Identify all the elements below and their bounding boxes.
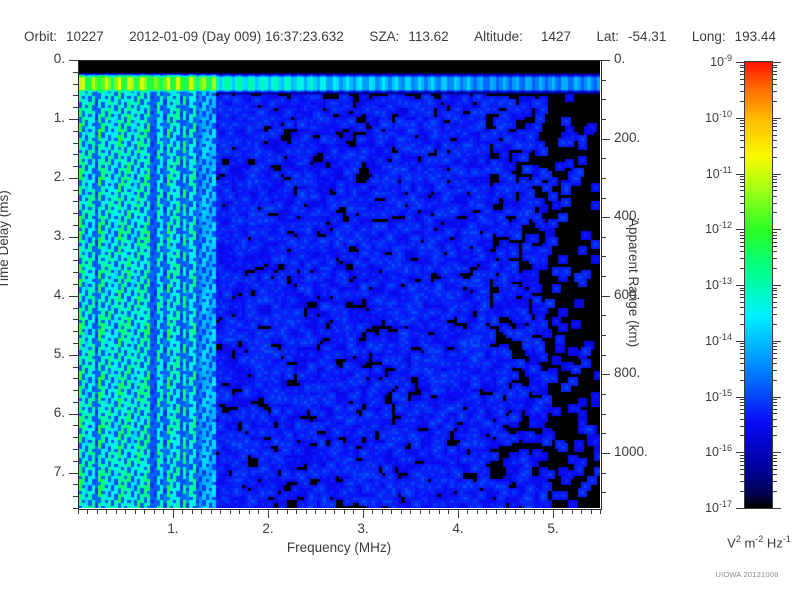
axis-tick [740, 409, 745, 410]
axis-tick [772, 101, 777, 102]
axis-tick [201, 509, 202, 514]
axis-tick [391, 509, 392, 514]
orbit-label: Orbit: [24, 29, 57, 44]
apparent-range-tick-label: 0. [614, 51, 625, 66]
axis-tick [772, 71, 777, 72]
axis-tick [73, 425, 78, 426]
colorbar-tick-label: 10-11 [706, 165, 732, 181]
axis-tick [505, 509, 506, 514]
axis-tick [772, 258, 777, 259]
axis-tick [772, 232, 777, 233]
axis-tick [772, 179, 777, 180]
axis-tick [601, 374, 610, 375]
credit-text: UIOWA 20121008 [692, 570, 800, 579]
axis-tick [740, 294, 745, 295]
axis-tick [740, 120, 745, 121]
axis-tick [601, 217, 610, 218]
axis-tick [154, 509, 155, 514]
axis-tick [601, 198, 606, 199]
axis-tick [740, 346, 745, 347]
colorbar-tick-label: 10-12 [705, 220, 732, 236]
axis-tick [173, 509, 174, 518]
apparent-range-axis-title-text: Apparent Range (km) [626, 218, 641, 347]
axis-tick [772, 455, 777, 456]
axis-tick [211, 509, 212, 514]
axis-tick [772, 349, 777, 350]
ionogram-figure: Orbit:10227 2012-01-09 (Day 009) 16:37:2… [0, 0, 800, 600]
colorbar-tick-mantissa: 10 [705, 501, 719, 515]
colorbar-tick-label: 10-14 [705, 332, 732, 348]
axis-tick [73, 496, 78, 497]
axis-tick [740, 402, 745, 403]
axis-tick [772, 481, 777, 482]
axis-tick [73, 131, 78, 132]
axis-tick [97, 509, 98, 514]
axis-tick [772, 65, 777, 66]
axis-tick [740, 426, 745, 427]
axis-tick [772, 288, 777, 289]
axis-tick [740, 79, 745, 80]
axis-tick [73, 143, 78, 144]
axis-tick [772, 196, 777, 197]
axis-tick [562, 509, 563, 514]
axis-tick [740, 126, 745, 127]
axis-tick [601, 119, 606, 120]
axis-tick [772, 118, 781, 119]
axis-tick [772, 358, 777, 359]
axis-tick [740, 123, 745, 124]
axis-tick [772, 123, 777, 124]
axis-tick [772, 235, 777, 236]
axis-tick [772, 458, 777, 459]
axis-tick [740, 314, 745, 315]
axis-tick [772, 363, 777, 364]
altitude-field: Altitude:1427 [474, 29, 571, 44]
axis-tick [429, 509, 430, 514]
axis-tick [73, 154, 78, 155]
axis-tick [163, 509, 164, 514]
axis-tick [740, 179, 745, 180]
axis-tick [740, 288, 745, 289]
axis-tick [69, 237, 78, 238]
lat-field: Lat:-54.31 [597, 29, 667, 44]
colorbar [745, 62, 772, 508]
altitude-value: 1427 [541, 29, 571, 44]
apparent-range-tick-label: 200. [614, 130, 640, 145]
axis-tick [496, 509, 497, 514]
axis-tick [601, 492, 606, 493]
axis-tick [69, 296, 78, 297]
axis-tick [73, 201, 78, 202]
axis-tick [772, 229, 781, 230]
axis-tick [73, 319, 78, 320]
lat-value: -54.31 [628, 29, 666, 44]
axis-tick [740, 203, 745, 204]
axis-tick [772, 353, 777, 354]
axis-tick [740, 370, 745, 371]
axis-tick [601, 473, 606, 474]
axis-tick [740, 358, 745, 359]
axis-tick [258, 509, 259, 514]
axis-tick [410, 509, 411, 514]
axis-tick [772, 67, 777, 68]
axis-tick [772, 343, 777, 344]
axis-tick [73, 461, 78, 462]
colorbar-tick-mantissa: 10 [710, 55, 724, 69]
axis-tick [772, 370, 777, 371]
colorbar-tick-mantissa: 10 [705, 111, 719, 125]
axis-tick [73, 378, 78, 379]
axis-tick [87, 509, 88, 514]
axis-tick [73, 95, 78, 96]
axis-tick [73, 343, 78, 344]
axis-tick [740, 405, 745, 406]
sza-value: 113.62 [408, 29, 448, 44]
axis-tick [73, 402, 78, 403]
axis-tick [740, 91, 745, 92]
time-delay-tick-label: 4. [54, 287, 65, 302]
axis-tick [740, 380, 745, 381]
axis-tick [601, 296, 610, 297]
axis-tick [772, 294, 777, 295]
axis-tick [439, 509, 440, 514]
lat-label: Lat: [597, 29, 620, 44]
colorbar-tick-mantissa: 10 [705, 278, 719, 292]
axis-tick [116, 509, 117, 514]
axis-tick [772, 212, 777, 213]
axis-tick [740, 343, 745, 344]
unit-hz-exponent: -1 [783, 534, 791, 544]
axis-tick [740, 176, 745, 177]
axis-tick [736, 62, 745, 63]
axis-tick [740, 71, 745, 72]
time-delay-tick-label: 6. [54, 405, 65, 420]
axis-tick [591, 509, 592, 514]
axis-tick [601, 335, 606, 336]
datetime-field: 2012-01-09 (Day 009) 16:37:23.632 [129, 29, 344, 44]
axis-tick [363, 509, 364, 518]
axis-tick [740, 101, 745, 102]
axis-tick [69, 119, 78, 120]
axis-tick [477, 509, 478, 514]
axis-tick [772, 465, 777, 466]
axis-tick [467, 509, 468, 514]
axis-tick [772, 491, 777, 492]
axis-tick [772, 413, 777, 414]
axis-tick [601, 99, 606, 100]
axis-tick [772, 203, 777, 204]
long-field: Long:193.44 [692, 29, 776, 44]
axis-tick [344, 509, 345, 514]
axis-tick [448, 509, 449, 514]
axis-tick [534, 509, 535, 514]
colorbar-tick-label: 10-9 [710, 53, 732, 69]
axis-tick [736, 174, 745, 175]
frequency-tick-label: 5. [547, 521, 558, 536]
axis-tick [772, 62, 781, 63]
axis-tick [772, 84, 777, 85]
axis-tick [73, 249, 78, 250]
axis-tick [740, 290, 745, 291]
apparent-range-tick-label: 1000. [614, 444, 648, 459]
axis-tick [239, 509, 240, 514]
axis-tick [601, 453, 610, 454]
colorbar-tick-exponent: -10 [719, 109, 732, 119]
axis-tick [69, 473, 78, 474]
axis-tick [740, 399, 745, 400]
axis-tick [73, 166, 78, 167]
long-label: Long: [692, 29, 726, 44]
axis-tick [772, 469, 777, 470]
axis-tick [740, 242, 745, 243]
axis-tick [73, 260, 78, 261]
axis-tick [772, 324, 777, 325]
axis-tick [601, 178, 606, 179]
sza-label: SZA: [369, 29, 399, 44]
time-delay-tick-label: 3. [54, 228, 65, 243]
axis-tick [601, 237, 606, 238]
orbit-value: 10227 [66, 29, 104, 44]
axis-tick [772, 341, 781, 342]
axis-tick [736, 229, 745, 230]
axis-tick [740, 246, 745, 247]
axis-tick [736, 452, 745, 453]
axis-tick [572, 509, 573, 514]
frequency-axis-title: Frequency (MHz) [78, 540, 600, 555]
axis-tick [736, 118, 745, 119]
time-delay-tick-label: 1. [54, 110, 65, 125]
axis-tick [772, 186, 777, 187]
axis-tick [740, 67, 745, 68]
axis-tick [296, 509, 297, 514]
axis-tick [740, 157, 745, 158]
axis-tick [69, 178, 78, 179]
axis-tick [73, 484, 78, 485]
time-delay-tick-label: 2. [54, 169, 65, 184]
axis-tick [736, 341, 745, 342]
colorbar-tick-label: 10-16 [705, 443, 732, 459]
axis-tick [772, 409, 777, 410]
axis-tick [73, 272, 78, 273]
axis-tick [772, 130, 777, 131]
axis-tick [249, 509, 250, 514]
axis-tick [772, 126, 777, 127]
axis-tick [740, 349, 745, 350]
axis-tick [182, 509, 183, 514]
colorbar-tick-exponent: -9 [724, 53, 732, 63]
axis-tick [740, 238, 745, 239]
axis-tick [73, 190, 78, 191]
axis-tick [736, 508, 745, 509]
colorbar-tick-exponent: -14 [719, 332, 732, 342]
axis-tick [740, 74, 745, 75]
colorbar-tick-exponent: -16 [719, 443, 732, 453]
axis-tick [772, 147, 777, 148]
axis-tick [601, 60, 610, 61]
axis-tick [73, 437, 78, 438]
axis-tick [601, 394, 606, 395]
axis-tick [581, 509, 582, 514]
long-value: 193.44 [735, 29, 776, 44]
axis-tick [144, 509, 145, 514]
axis-tick [772, 452, 781, 453]
axis-tick [772, 419, 777, 420]
axis-tick [772, 251, 777, 252]
colorbar-tick-exponent: -15 [719, 388, 732, 398]
axis-tick [601, 355, 606, 356]
unit-hz: Hz [763, 535, 783, 550]
axis-tick [740, 458, 745, 459]
colorbar-tick-mantissa: 10 [705, 334, 719, 348]
axis-tick [601, 158, 606, 159]
axis-tick [736, 397, 745, 398]
axis-tick [73, 72, 78, 73]
axis-tick [740, 258, 745, 259]
axis-tick [772, 238, 777, 239]
axis-tick [353, 509, 354, 514]
axis-tick [772, 242, 777, 243]
axis-tick [334, 509, 335, 514]
altitude-label: Altitude: [474, 29, 523, 44]
spectrogram-plot [78, 60, 600, 508]
axis-tick [740, 307, 745, 308]
colorbar-tick-exponent: -13 [719, 276, 732, 286]
axis-tick [740, 469, 745, 470]
axis-tick [230, 509, 231, 514]
axis-tick [772, 402, 777, 403]
axis-tick [73, 308, 78, 309]
colorbar-tick-mantissa: 10 [705, 445, 719, 459]
axis-tick [73, 367, 78, 368]
axis-tick [740, 135, 745, 136]
axis-tick [740, 302, 745, 303]
axis-tick [740, 363, 745, 364]
axis-tick [325, 509, 326, 514]
axis-tick [69, 414, 78, 415]
axis-tick [73, 390, 78, 391]
axis-tick [601, 80, 606, 81]
axis-tick [772, 314, 777, 315]
axis-tick [73, 284, 78, 285]
axis-tick [458, 509, 459, 518]
colorbar-tick-label: 10-17 [705, 499, 732, 515]
axis-tick [524, 509, 525, 514]
axis-tick [740, 268, 745, 269]
axis-tick [772, 302, 777, 303]
axis-tick [740, 182, 745, 183]
axis-tick [740, 190, 745, 191]
axis-tick [772, 135, 777, 136]
axis-tick [740, 324, 745, 325]
axis-tick [73, 225, 78, 226]
axis-tick [772, 190, 777, 191]
axis-tick [740, 413, 745, 414]
axis-tick [772, 346, 777, 347]
axis-tick [740, 481, 745, 482]
axis-tick [740, 435, 745, 436]
axis-tick [740, 147, 745, 148]
axis-tick [73, 84, 78, 85]
frequency-tick-label: 2. [262, 521, 273, 536]
axis-tick [553, 509, 554, 518]
time-delay-tick-label: 5. [54, 346, 65, 361]
axis-tick [287, 509, 288, 514]
colorbar-tick-label: 10-15 [705, 388, 732, 404]
axis-tick [125, 509, 126, 514]
axis-tick [772, 307, 777, 308]
axis-tick [601, 433, 606, 434]
axis-tick [515, 509, 516, 514]
axis-tick [401, 509, 402, 514]
axis-tick [69, 355, 78, 356]
axis-tick [69, 60, 78, 61]
axis-tick [192, 509, 193, 514]
axis-tick [543, 509, 544, 514]
axis-tick [740, 186, 745, 187]
axis-tick [772, 79, 777, 80]
axis-tick [736, 285, 745, 286]
time-delay-axis-title: Time Delay (ms) [0, 190, 11, 289]
axis-tick [486, 509, 487, 514]
axis-tick [740, 465, 745, 466]
axis-tick [601, 256, 606, 257]
colorbar-tick-mantissa: 10 [705, 222, 719, 236]
axis-tick [772, 508, 781, 509]
datetime-value: 2012-01-09 (Day 009) 16:37:23.632 [129, 29, 344, 44]
apparent-range-tick-label: 800. [614, 365, 640, 380]
axis-tick [772, 405, 777, 406]
time-delay-tick-label: 7. [54, 464, 65, 479]
axis-tick [220, 509, 221, 514]
axis-tick [740, 140, 745, 141]
time-delay-tick-label: 0. [54, 51, 65, 66]
colorbar-tick-mantissa: 10 [706, 167, 720, 181]
axis-tick [740, 419, 745, 420]
axis-tick [772, 461, 777, 462]
unit-m: m [741, 535, 755, 550]
axis-tick [601, 276, 606, 277]
axis-tick [772, 285, 781, 286]
colorbar-tick-exponent: -11 [720, 165, 732, 175]
axis-tick [600, 509, 601, 514]
orbit-field: Orbit:10227 [24, 29, 104, 44]
axis-tick [772, 140, 777, 141]
axis-tick [740, 130, 745, 131]
axis-tick [740, 196, 745, 197]
header-metadata: Orbit:10227 2012-01-09 (Day 009) 16:37:2… [0, 29, 800, 44]
sza-field: SZA:113.62 [369, 29, 448, 44]
axis-tick [277, 509, 278, 514]
time-delay-axis-title-wrap: Time Delay (ms) [0, 0, 1, 1]
axis-tick [73, 107, 78, 108]
colorbar-gradient [745, 62, 772, 508]
axis-tick [268, 509, 269, 518]
axis-tick [740, 455, 745, 456]
axis-tick [772, 290, 777, 291]
axis-tick [106, 509, 107, 514]
axis-tick [740, 232, 745, 233]
axis-tick [382, 509, 383, 514]
axis-tick [772, 174, 781, 175]
axis-tick [420, 509, 421, 514]
axis-tick [740, 212, 745, 213]
axis-tick [740, 84, 745, 85]
axis-tick [772, 74, 777, 75]
axis-tick [740, 251, 745, 252]
colorbar-tick-label: 10-13 [705, 276, 732, 292]
axis-tick [315, 509, 316, 514]
axis-tick [772, 157, 777, 158]
